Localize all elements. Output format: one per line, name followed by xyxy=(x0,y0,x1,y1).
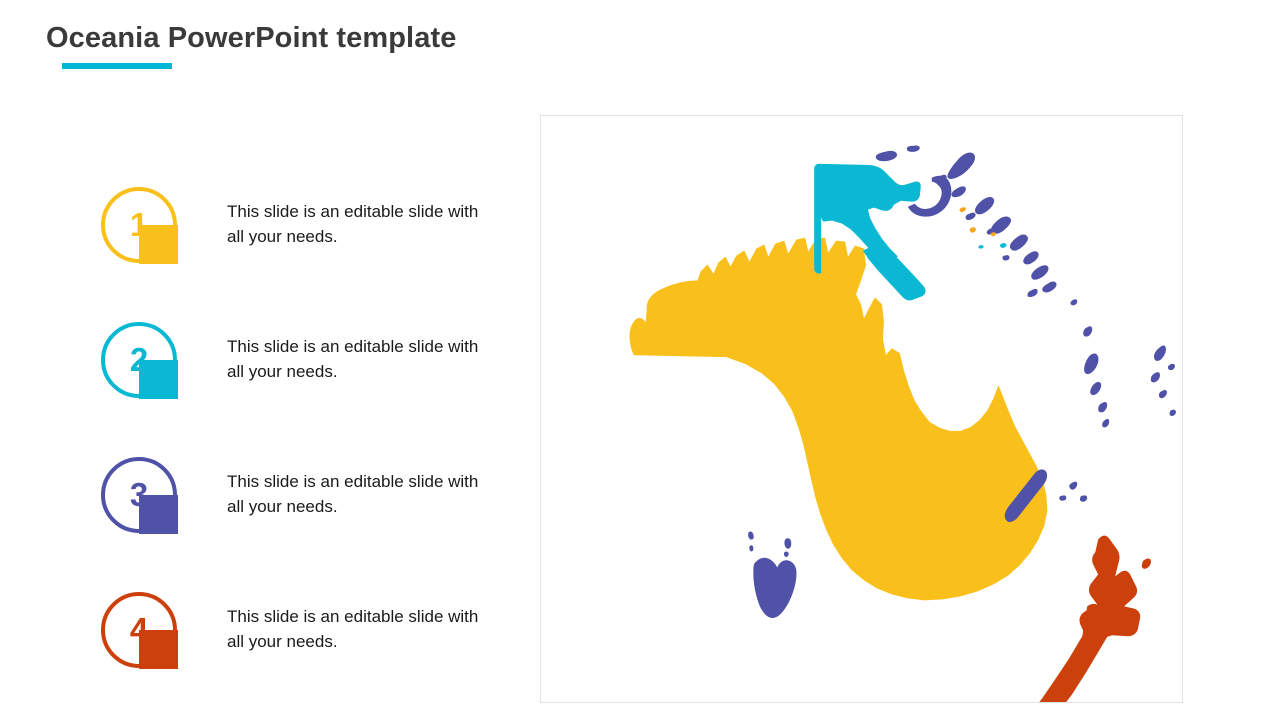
page-title: Oceania PowerPoint template xyxy=(46,20,666,56)
numbered-badge-icon: 3 xyxy=(100,456,178,534)
list-item[interactable]: 1 This slide is an editable slide with a… xyxy=(100,186,500,321)
list-item[interactable]: 3 This slide is an editable slide with a… xyxy=(100,456,500,591)
list-item[interactable]: 2 This slide is an editable slide with a… xyxy=(100,321,500,456)
badge-number: 4 xyxy=(100,591,178,669)
list-item-text: This slide is an editable slide with all… xyxy=(227,469,489,519)
title-accent-bar xyxy=(62,63,172,69)
badge-number: 1 xyxy=(100,186,178,264)
numbered-badge-icon: 2 xyxy=(100,321,178,399)
badge-number: 3 xyxy=(100,456,178,534)
list-item-text: This slide is an editable slide with all… xyxy=(227,199,489,249)
map-region-png-west[interactable] xyxy=(814,164,821,274)
list-item[interactable]: 4 This slide is an editable slide with a… xyxy=(100,591,500,726)
oceania-map[interactable] xyxy=(541,116,1182,702)
list-item-text: This slide is an editable slide with all… xyxy=(227,334,489,384)
badge-number: 2 xyxy=(100,321,178,399)
numbered-badge-icon: 4 xyxy=(100,591,178,669)
list-item-text: This slide is an editable slide with all… xyxy=(227,604,489,654)
bullet-list: 1 This slide is an editable slide with a… xyxy=(100,186,500,726)
numbered-badge-icon: 1 xyxy=(100,186,178,264)
map-panel[interactable] xyxy=(540,115,1183,703)
title-block: Oceania PowerPoint template xyxy=(46,20,666,56)
slide-canvas: Oceania PowerPoint template 1 This slide… xyxy=(0,0,1280,720)
